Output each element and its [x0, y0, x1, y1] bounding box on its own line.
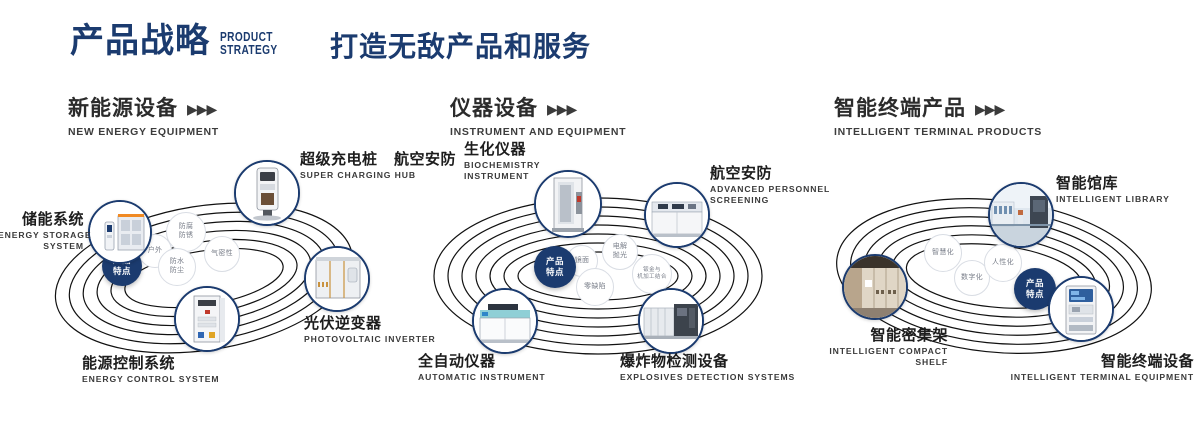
compact-shelf-icon	[844, 256, 906, 318]
section-heading-en: INTELLIGENT TERMINAL PRODUCTS	[834, 126, 1042, 138]
label-energy-storage-system: 储能系统 ENERGY STORAGE SYSTEM	[0, 212, 84, 252]
cluster-instrument: 镜面 电解 抛光 零缺陷 钣金与 机加工结合 产品 特点 航空安防	[398, 150, 798, 400]
label-explosives-detection-systems: 爆炸物检测设备 EXPLOSIVES DETECTION SYSTEMS	[620, 354, 795, 382]
label-intelligent-compact-shelf: 智能密集架 INTELLIGENT COMPACT SHELF	[788, 328, 948, 368]
page-subtitle: 打造无敌产品和服务	[330, 33, 591, 61]
page-title-cn: 产品战略	[70, 24, 210, 58]
section-heading-en: INSTRUMENT AND EQUIPMENT	[450, 126, 626, 138]
node-explosives-detection-systems[interactable]	[638, 288, 704, 354]
feature-bubble: 防水 防尘	[158, 248, 196, 286]
node-energy-storage-system[interactable]	[88, 200, 152, 264]
node-advanced-personnel-screening[interactable]	[644, 182, 710, 248]
section-heading-new-energy: 新能源设备 ▶▶▶ NEW ENERGY EQUIPMENT	[68, 98, 219, 138]
section-heading-instrument: 仪器设备 ▶▶▶ INSTRUMENT AND EQUIPMENT	[450, 98, 626, 138]
node-super-charging-hub[interactable]	[234, 160, 300, 226]
detector-rack-icon	[640, 290, 702, 352]
analyzer-icon	[474, 290, 536, 352]
label-automatic-instrument: 全自动仪器 AUTOMATIC INSTRUMENT	[418, 354, 545, 382]
kiosk-terminal-icon	[1050, 278, 1112, 340]
node-biochemistry-instrument[interactable]	[534, 170, 602, 238]
control-cabinet-icon	[176, 288, 238, 350]
feature-bubble: 零缺陷	[576, 268, 614, 306]
label-intelligent-library: 智能馆库 INTELLIGENT LIBRARY	[1056, 176, 1170, 204]
node-automatic-instrument[interactable]	[472, 288, 538, 354]
inverter-cabinet-icon	[306, 248, 368, 310]
feature-bubble: 气密性	[204, 236, 240, 272]
node-intelligent-library[interactable]	[988, 182, 1054, 248]
core-bubble-line1: 产品	[1026, 278, 1044, 289]
chevron-right-triple-icon: ▶▶▶	[547, 102, 576, 116]
section-heading-intelligent-terminal: 智能终端产品 ▶▶▶ INTELLIGENT TERMINAL PRODUCTS	[834, 98, 1042, 138]
core-bubble-line1: 产品	[546, 256, 564, 267]
page-title-en-line2: STRATEGY	[220, 43, 278, 56]
screening-machine-icon	[646, 184, 708, 246]
cluster-new-energy: 防腐 防锈 户外 防水 防尘 气密性 产品 特点	[8, 150, 408, 400]
product-strategy-infographic: 产品战略 PRODUCT STRATEGY 打造无敌产品和服务 新能源设备 ▶▶…	[0, 0, 1200, 422]
feature-bubble: 智慧化	[924, 234, 962, 272]
label-energy-control-system: 能源控制系统 ENERGY CONTROL SYSTEM	[82, 356, 219, 384]
chevron-right-triple-icon: ▶▶▶	[187, 102, 216, 116]
battery-cabinet-icon	[90, 202, 150, 262]
section-heading-en: NEW ENERGY EQUIPMENT	[68, 126, 219, 138]
section-heading-cn: 新能源设备	[68, 98, 178, 119]
cluster-intelligent-terminal: 智慧化 数字化 人性化 产品 特点 智能馆	[798, 150, 1198, 400]
feature-bubble: 防腐 防锈	[166, 212, 206, 252]
label-aviation-security: 航空安防	[394, 152, 456, 169]
node-photovoltaic-inverter[interactable]	[304, 246, 370, 312]
library-room-icon	[990, 184, 1052, 246]
section-heading-cn: 智能终端产品	[834, 98, 966, 119]
feature-bubble: 电解 抛光	[602, 234, 638, 270]
core-bubble-product-features: 产品 特点	[534, 246, 576, 288]
page-title-en: PRODUCT STRATEGY	[220, 30, 278, 56]
core-bubble-line2: 特点	[1026, 289, 1044, 300]
core-bubble-line2: 特点	[113, 266, 131, 277]
core-bubble-line2: 特点	[546, 267, 564, 278]
chevron-right-triple-icon: ▶▶▶	[975, 102, 1004, 116]
node-intelligent-compact-shelf[interactable]	[842, 254, 908, 320]
node-energy-control-system[interactable]	[174, 286, 240, 352]
charging-pile-icon	[236, 162, 298, 224]
page-title: 产品战略 PRODUCT STRATEGY	[70, 24, 294, 58]
scanner-gate-icon	[536, 172, 600, 236]
feature-bubble: 人性化	[984, 244, 1022, 282]
node-intelligent-terminal-equipment[interactable]	[1048, 276, 1114, 342]
label-intelligent-terminal-equipment: 智能终端设备 INTELLIGENT TERMINAL EQUIPMENT	[978, 354, 1194, 382]
label-biochemistry-instrument: 生化仪器 BIOCHEMISTRY INSTRUMENT	[464, 142, 540, 182]
section-heading-cn: 仪器设备	[450, 98, 538, 119]
